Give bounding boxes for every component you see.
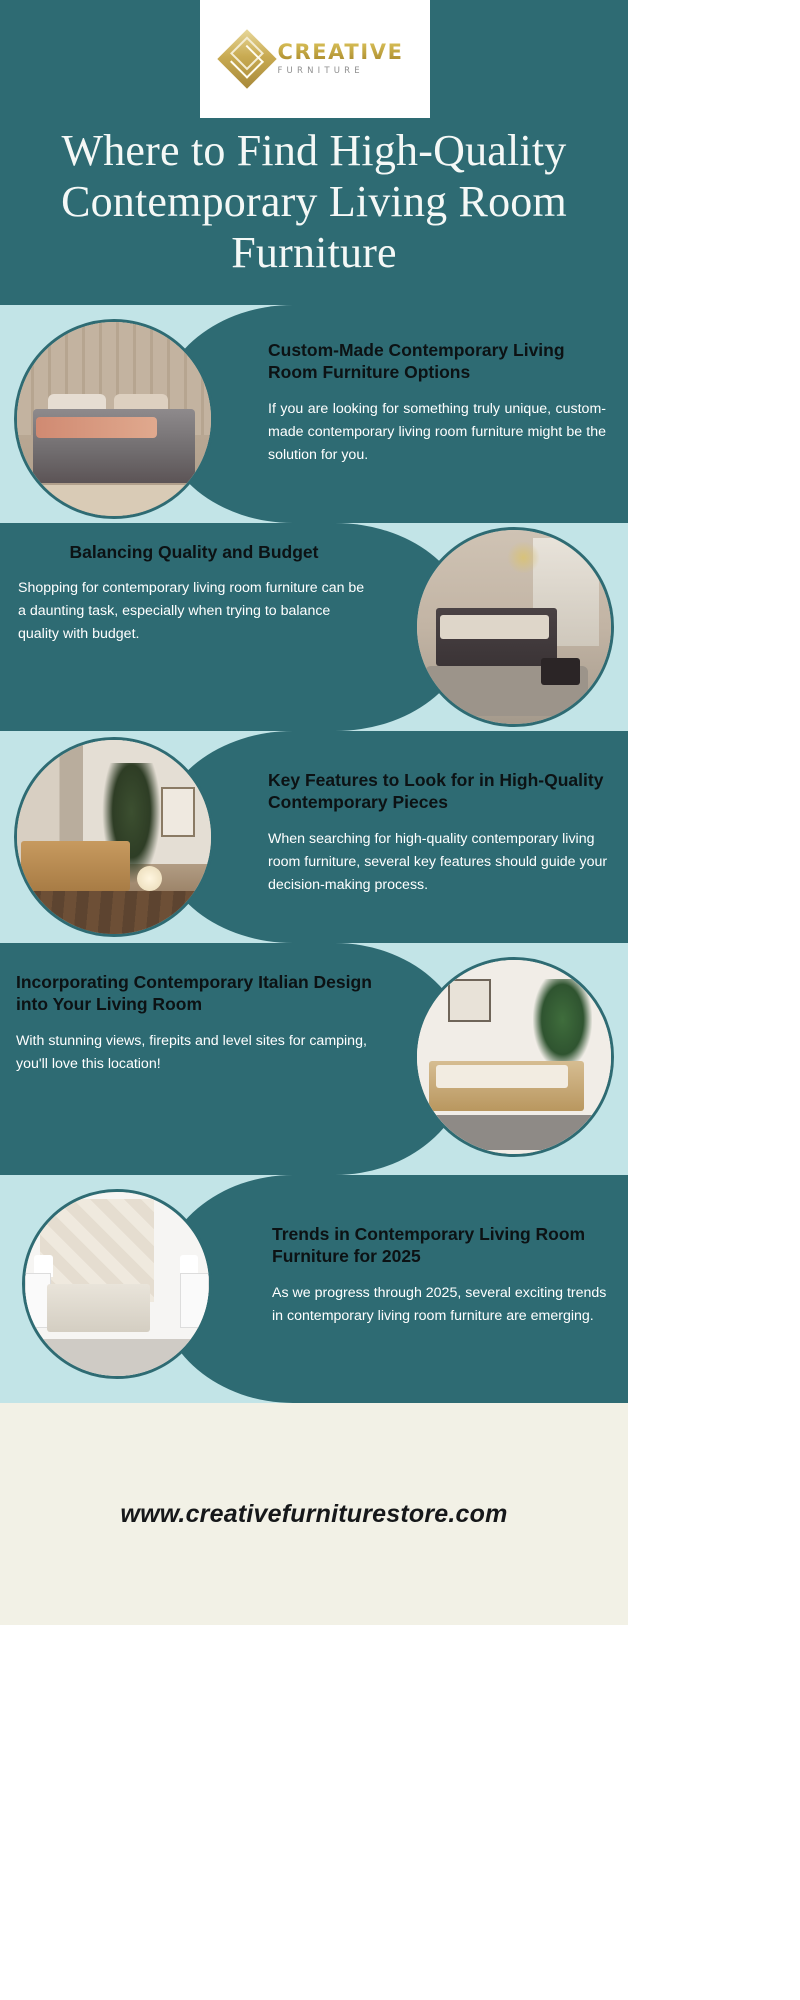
brand-subtitle: FURNITURE bbox=[277, 67, 403, 76]
section-1-title: Custom-Made Contemporary Living Room Fur… bbox=[268, 339, 606, 384]
infographic-page: CREATIVE FURNITURE Where to Find High-Qu… bbox=[0, 0, 800, 2000]
section-5-body: As we progress through 2025, several exc… bbox=[272, 1282, 616, 1328]
section-5-image bbox=[22, 1189, 212, 1379]
brand-name: CREATIVE bbox=[277, 42, 403, 63]
section-1-body: If you are looking for something truly u… bbox=[268, 398, 606, 467]
section-3-title: Key Features to Look for in High-Quality… bbox=[268, 769, 612, 814]
page-title: Where to Find High-Quality Contemporary … bbox=[0, 125, 628, 278]
logo: CREATIVE FURNITURE bbox=[200, 0, 430, 118]
section-5-title: Trends in Contemporary Living Room Furni… bbox=[272, 1223, 616, 1268]
footer: www.creativefurniturestore.com bbox=[0, 1403, 628, 1625]
website-url[interactable]: www.creativefurniturestore.com bbox=[120, 1500, 507, 1529]
section-2-title: Balancing Quality and Budget bbox=[18, 541, 370, 563]
section-5: Trends in Contemporary Living Room Furni… bbox=[0, 1175, 628, 1403]
section-1-image bbox=[14, 319, 214, 519]
section-2: Balancing Quality and Budget Shopping fo… bbox=[0, 523, 628, 731]
infographic-canvas: CREATIVE FURNITURE Where to Find High-Qu… bbox=[0, 0, 628, 2000]
gold-diamond-icon bbox=[218, 29, 277, 88]
section-3-image bbox=[14, 737, 214, 937]
section-1: Custom-Made Contemporary Living Room Fur… bbox=[0, 305, 628, 523]
section-3-body: When searching for high-quality contempo… bbox=[268, 828, 612, 897]
header: CREATIVE FURNITURE Where to Find High-Qu… bbox=[0, 0, 628, 305]
section-4-image bbox=[414, 957, 614, 1157]
section-2-image bbox=[414, 527, 614, 727]
section-4-body: With stunning views, firepits and level … bbox=[16, 1030, 376, 1076]
section-2-body: Shopping for contemporary living room fu… bbox=[18, 577, 370, 646]
section-4: Incorporating Contemporary Italian Desig… bbox=[0, 943, 628, 1175]
section-3: Key Features to Look for in High-Quality… bbox=[0, 731, 628, 943]
section-4-title: Incorporating Contemporary Italian Desig… bbox=[16, 971, 376, 1016]
